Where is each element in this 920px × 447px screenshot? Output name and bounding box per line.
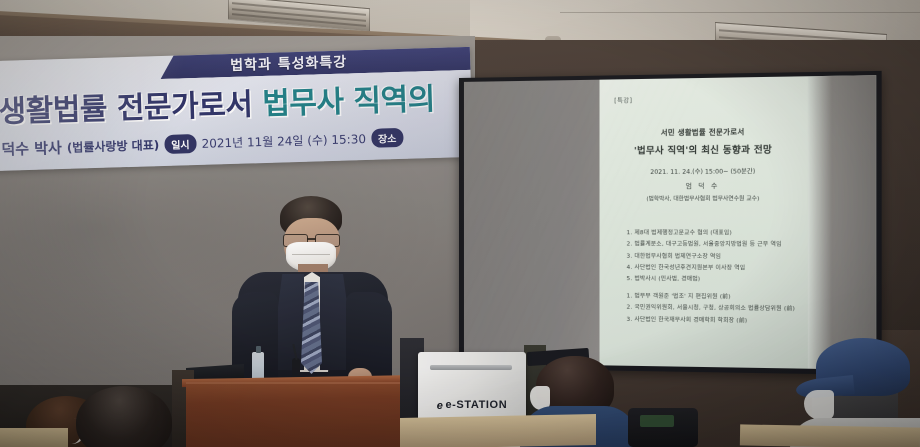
projection-screen-surface: [특강] 서민 생활법률 전문가로서 '법무사 직역'의 최신 동향과 전망 2… bbox=[464, 75, 876, 370]
table-foreground-left bbox=[0, 428, 68, 447]
list-item: 3. 사단법인 한국재무사회 경매학회 학회장 (前) bbox=[627, 314, 797, 327]
table-foreground-mid bbox=[400, 414, 596, 447]
screen-unlit-band bbox=[464, 80, 600, 366]
slide-title-line1: 서민 생활법률 전문가로서 bbox=[600, 126, 808, 138]
projection-screen: [특강] 서민 생활법률 전문가로서 '법무사 직역'의 최신 동향과 전망 2… bbox=[459, 71, 882, 375]
slide-meta-presenter: 엄 덕 수 bbox=[600, 179, 808, 190]
lecture-hall-photo: 법학과 특성화특강 ! 생활법률 전문가로서 법무사 직역의 : 엄덕수 박사 … bbox=[0, 0, 920, 447]
banner-place-pill: 장소 bbox=[371, 128, 404, 148]
list-item: 4. 사단법인 한국성년후견지원본부 이사장 역임 bbox=[627, 263, 797, 275]
banner-speaker-affiliation: (법률사랑방 대표) bbox=[67, 136, 160, 156]
ceiling-seam bbox=[560, 12, 920, 13]
slide-title-line2: '법무사 직역'의 최신 동향과 전망 bbox=[600, 142, 808, 157]
estation-logo: ee-STATION bbox=[418, 399, 526, 411]
estation-brand-label: e-STATION bbox=[445, 399, 507, 411]
list-item: 2. 법률계분소, 대구고등법원, 서울중앙지방법원 등 근무 역임 bbox=[627, 240, 797, 252]
slide-meta: 2021. 11. 24.(수) 15:00~ (50분간) 엄 덕 수 (법학… bbox=[600, 166, 808, 207]
banner-speaker-name: 엄덕수 박사 bbox=[0, 137, 62, 160]
table-foreground-right bbox=[740, 424, 920, 447]
av-cabinet-slot bbox=[430, 365, 512, 370]
banner-datetime-value: 2021년 11월 24일 (수) 15:30 bbox=[201, 130, 366, 152]
estation-brand-mark: e bbox=[437, 400, 444, 412]
list-item: 1. 제8대 법제행정고문교수 협의 (대표임) bbox=[627, 228, 797, 240]
banner-headline: ! 생활법률 전문가로서 법무사 직역의 bbox=[0, 74, 435, 132]
banner-ribbon-label: 법학과 특성화특강 bbox=[230, 52, 347, 75]
lectern bbox=[186, 382, 419, 447]
slide-meta-affiliation: (법학박사, 대한법무사협회 법무사연수원 교수) bbox=[600, 194, 808, 203]
event-banner: 법학과 특성화특강 ! 생활법률 전문가로서 법무사 직역의 : 엄덕수 박사 … bbox=[0, 47, 473, 172]
list-item: 3. 대한법무사협회 법제연구소장 역임 bbox=[627, 251, 797, 263]
banner-datetime-pill: 일시 bbox=[164, 134, 197, 154]
projected-slide: [특강] 서민 생활법률 전문가로서 '법무사 직역'의 최신 동향과 전망 2… bbox=[600, 76, 808, 368]
slide-meta-datetime: 2021. 11. 24.(수) 15:00~ (50분간) bbox=[600, 166, 808, 176]
face-mask-icon bbox=[804, 390, 834, 420]
presenter-tie bbox=[301, 282, 322, 374]
slide-bullet-group-1: 1. 제8대 법제행정고문교수 협의 (대표임) 2. 법률계분소, 대구고등법… bbox=[627, 228, 797, 287]
list-item: 5. 법박사시 (민사법, 경매법) bbox=[627, 274, 797, 287]
banner-subline: : 엄덕수 박사 (법률사랑방 대표) 일시 2021년 11월 24일 (수)… bbox=[0, 127, 404, 161]
backpack-icon bbox=[628, 408, 698, 447]
slide-title: 서민 생활법률 전문가로서 '법무사 직역'의 최신 동향과 전망 bbox=[600, 126, 808, 157]
slide-bullet-group-2: 1. 법무부 객원준 '법조' 지 편집위원 (前) 2. 국민권익위원회, 서… bbox=[627, 291, 797, 327]
banner-headline-part1: ! 생활법률 전문가로서 bbox=[0, 87, 263, 130]
banner-headline-part2: 법무사 직역의 bbox=[262, 82, 436, 122]
screen-side-band bbox=[808, 75, 877, 370]
slide-tag: [특강] bbox=[614, 95, 632, 104]
